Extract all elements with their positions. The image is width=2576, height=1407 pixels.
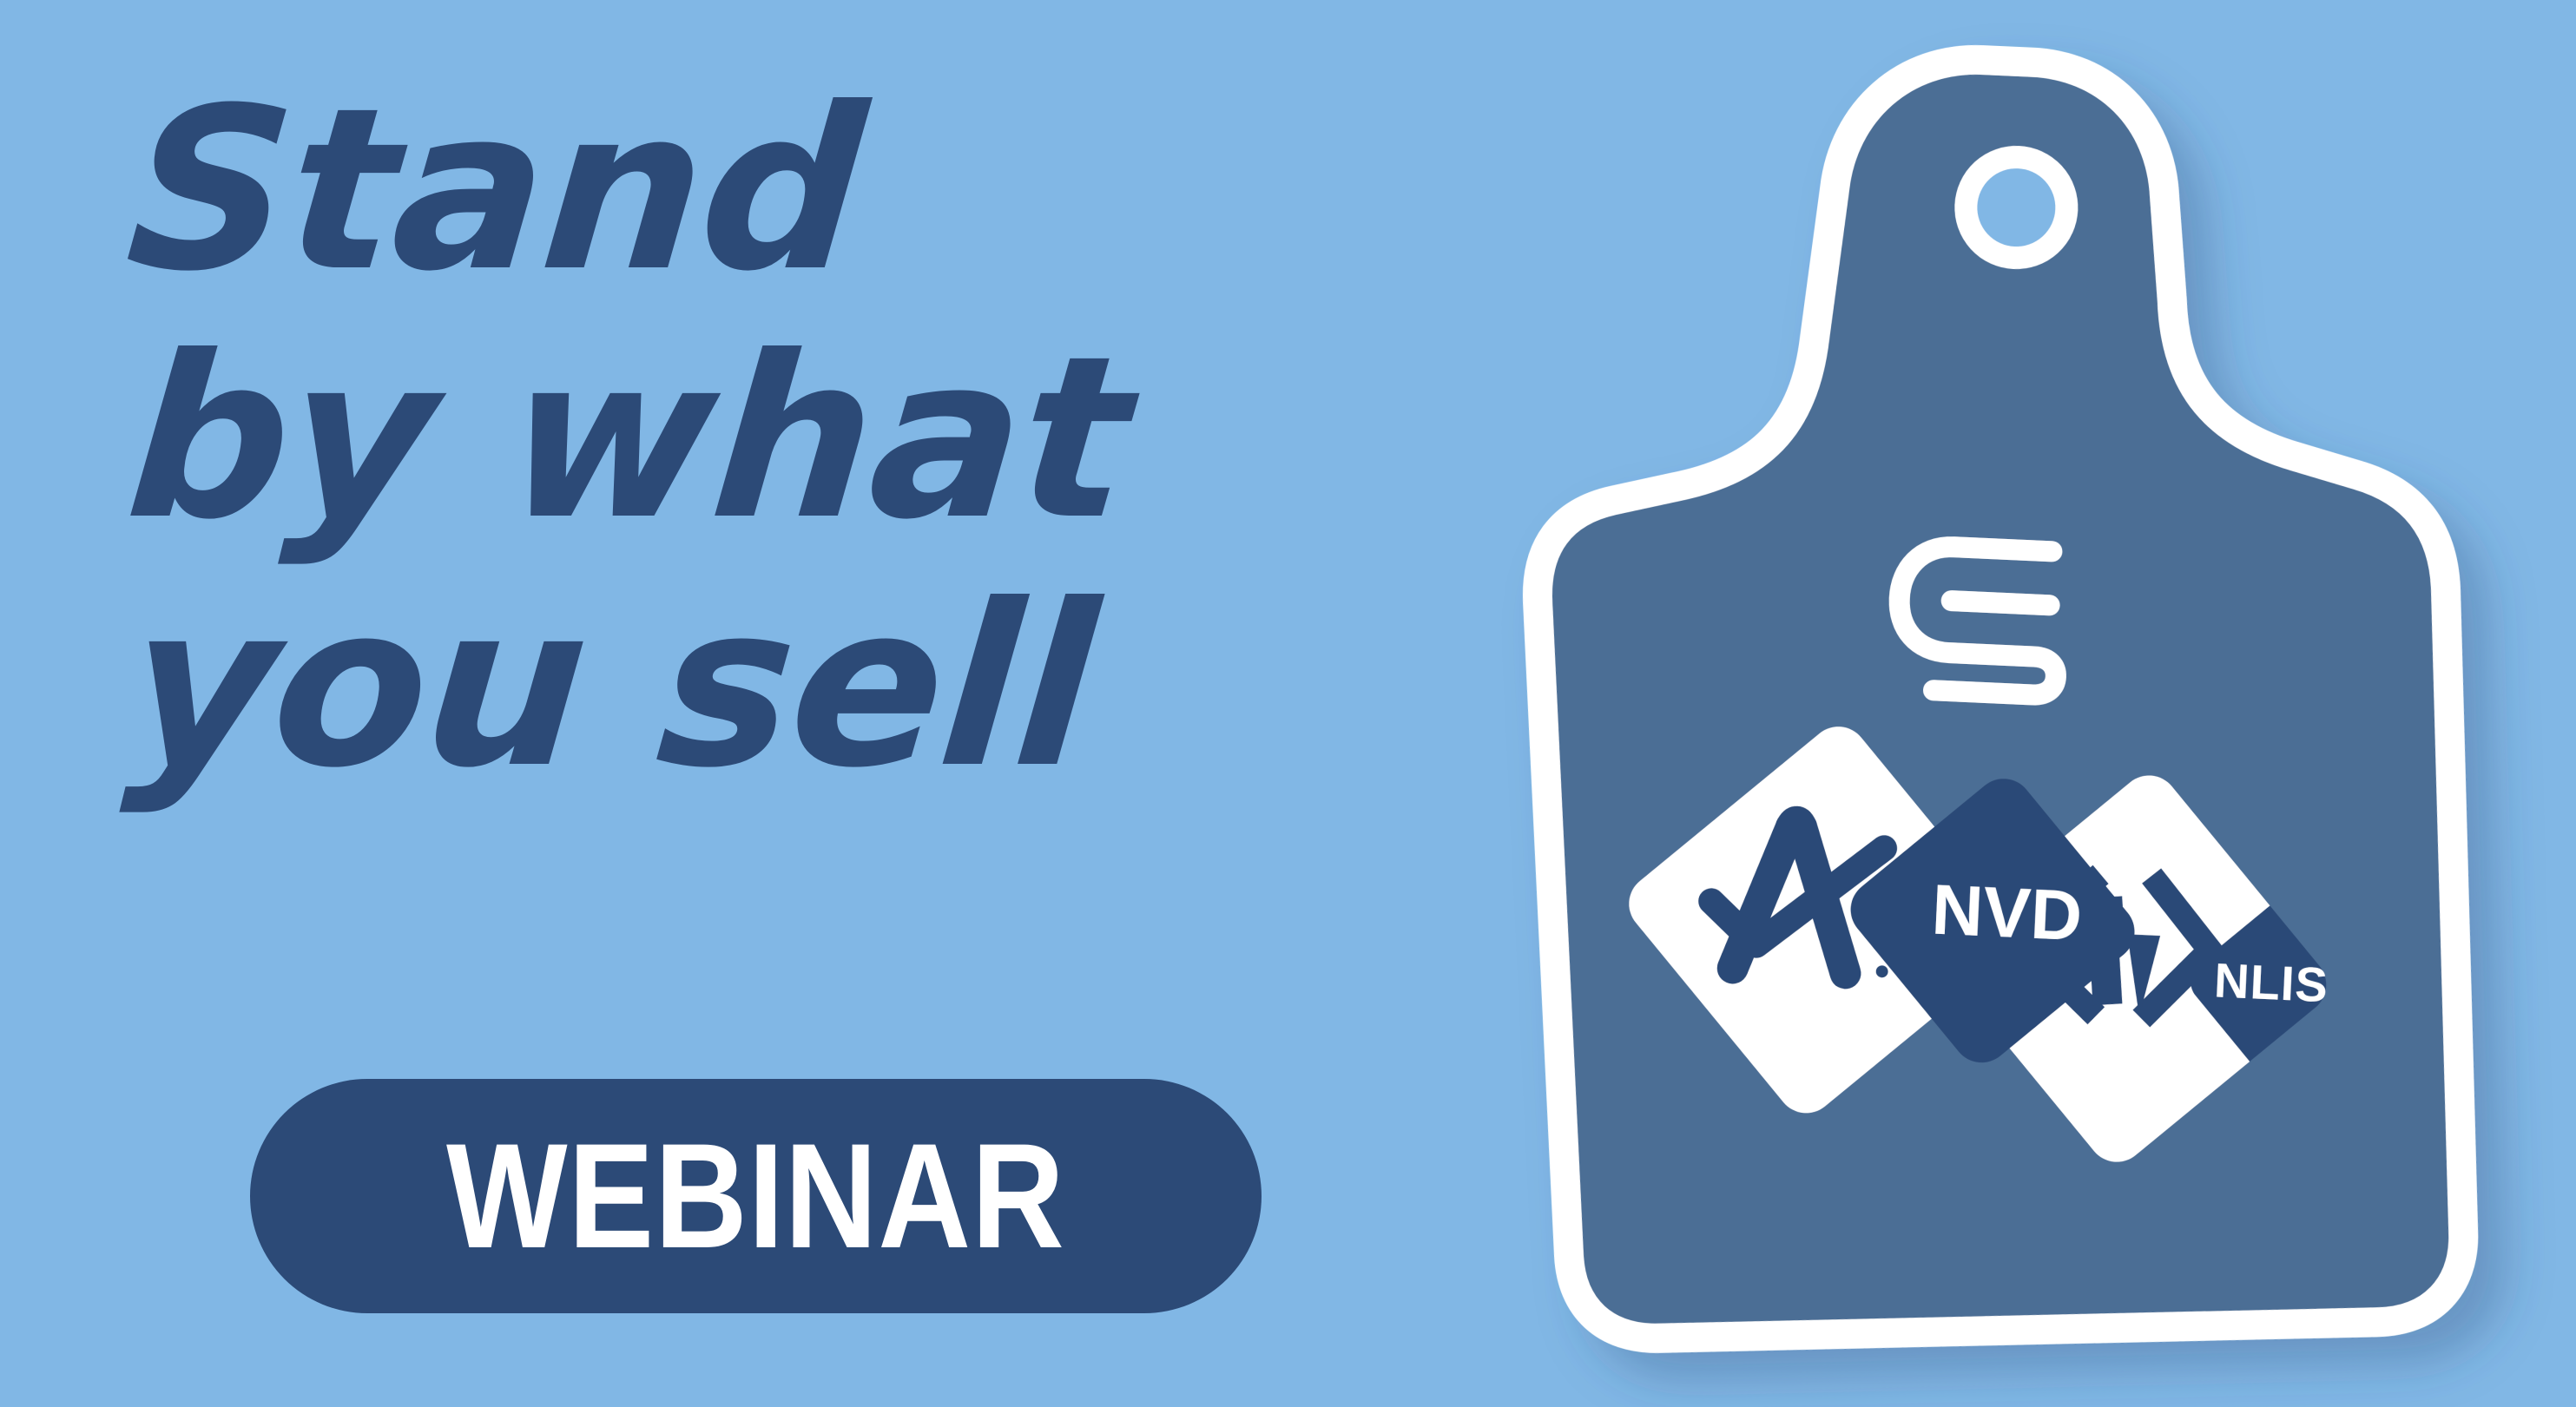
ear-tag-illustration: LPA xyxy=(1511,52,2535,1371)
headline-block: Stand by what you sell xyxy=(130,61,1433,1016)
badge-nvd-label: NVD xyxy=(1930,870,2084,956)
webinar-button-label: WEBINAR xyxy=(446,1121,1065,1271)
tag-hole xyxy=(1964,155,2069,260)
ear-tag-svg: LPA xyxy=(1511,52,2535,1371)
ear-tag-group: LPA xyxy=(1504,41,2515,1375)
headline-line-1: Stand xyxy=(121,78,1443,302)
badge-nlis-label: NLIS xyxy=(2213,953,2329,1013)
webinar-button[interactable]: WEBINAR xyxy=(250,1079,1262,1313)
headline-line-2: by what xyxy=(121,326,1443,550)
promo-banner: Stand by what you sell WEBINAR xyxy=(0,0,2576,1407)
headline-line-3: you sell xyxy=(121,575,1443,799)
